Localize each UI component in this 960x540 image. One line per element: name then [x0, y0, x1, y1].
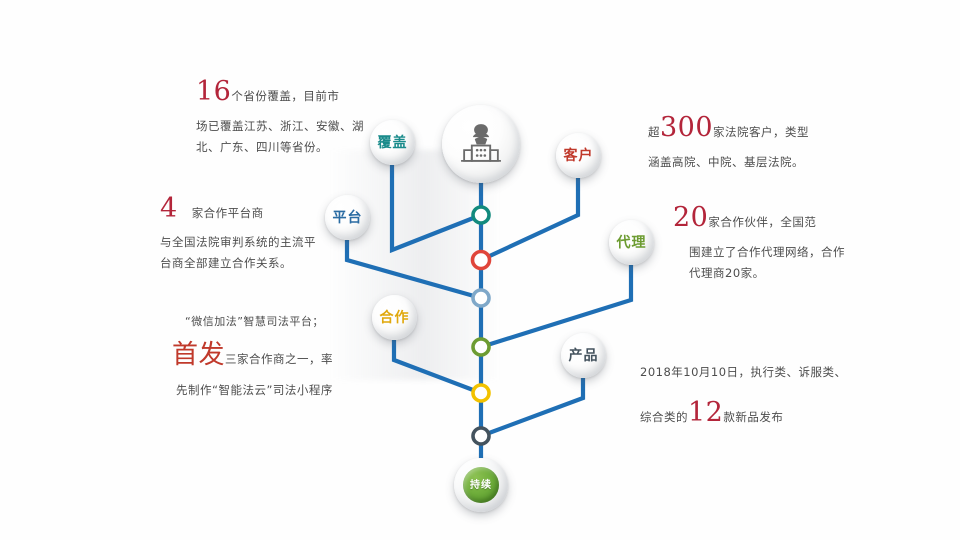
note-platform-lead: 家合作平台商 [192, 206, 264, 220]
note-product: 2018年10月10日，执行类、诉服类、 综合类的12款新品发布 [640, 362, 850, 428]
node-platform[interactable]: 平台 [325, 195, 370, 240]
note-agent: 20家合作伙伴，全国范 围建立了合作代理网络，合作代理商20家。 [673, 212, 848, 284]
note-coverage-number: 16 [196, 76, 231, 107]
note-product-body-top: 2018年10月10日，执行类、诉服类、 [640, 362, 850, 383]
note-customer-prefix: 超 [648, 125, 660, 139]
note-customer-number: 300 [660, 112, 713, 143]
note-coop-lead: 三家合作商之一，率 [225, 352, 333, 366]
node-customer[interactable]: 客户 [556, 133, 601, 178]
note-product-body-pre: 综合类的 [640, 410, 688, 424]
court-judge-icon [456, 121, 506, 167]
node-agent[interactable]: 代理 [609, 220, 654, 265]
node-product-label: 产品 [569, 349, 599, 363]
note-product-body-post: 款新品发布 [723, 410, 783, 424]
node-root-label: 持续 [470, 480, 492, 491]
junction-coop [473, 385, 489, 401]
junction-customer [473, 252, 490, 269]
diagram-canvas: 覆盖 客户 平台 代理 合作 产品 持续 16个省份覆盖，目前市 场已覆盖江苏、… [0, 0, 960, 540]
node-root[interactable]: 持续 [454, 458, 508, 512]
note-customer-body: 涵盖高院、中院、基层法院。 [648, 152, 828, 173]
note-product-number: 12 [688, 397, 723, 428]
node-coverage-label: 覆盖 [378, 136, 408, 150]
node-product[interactable]: 产品 [561, 333, 606, 378]
note-coop-quote: “微信加法”智慧司法平台； [185, 311, 385, 332]
note-coverage-body: 场已覆盖江苏、浙江、安徽、湖北、广东、四川等省份。 [196, 116, 371, 158]
junction-product [473, 428, 489, 444]
note-coop-body: 先制作“智能法云”司法小程序 [176, 380, 372, 401]
junction-agent [473, 339, 489, 355]
root-core: 持续 [463, 467, 499, 503]
node-customer-label: 客户 [564, 149, 594, 163]
node-court[interactable] [442, 105, 520, 183]
note-platform-number: 4 [160, 193, 178, 224]
note-coop: 首发三家合作商之一，率 先制作“智能法云”司法小程序 [172, 345, 372, 401]
note-platform-body: 与全国法院审判系统的主流平台商全部建立合作关系。 [160, 232, 325, 274]
note-platform: 4家合作平台商 与全国法院审判系统的主流平台商全部建立合作关系。 [160, 203, 325, 274]
node-coverage[interactable]: 覆盖 [370, 120, 415, 165]
note-agent-body: 围建立了合作代理网络，合作代理商20家。 [689, 242, 848, 284]
note-customer: 超300家法院客户，类型 涵盖高院、中院、基层法院。 [648, 122, 828, 173]
note-coop-number: 首发 [172, 340, 225, 370]
node-platform-label: 平台 [333, 211, 363, 225]
junction-coverage [473, 207, 489, 223]
node-agent-label: 代理 [617, 236, 647, 250]
note-agent-lead: 家合作伙伴，全国范 [708, 215, 816, 229]
note-agent-number: 20 [673, 202, 708, 233]
junction-platform [473, 290, 489, 306]
note-coverage-lead: 个省份覆盖，目前市 [231, 89, 339, 103]
note-customer-lead: 家法院客户，类型 [713, 125, 809, 139]
note-coverage: 16个省份覆盖，目前市 场已覆盖江苏、浙江、安徽、湖北、广东、四川等省份。 [196, 86, 371, 158]
